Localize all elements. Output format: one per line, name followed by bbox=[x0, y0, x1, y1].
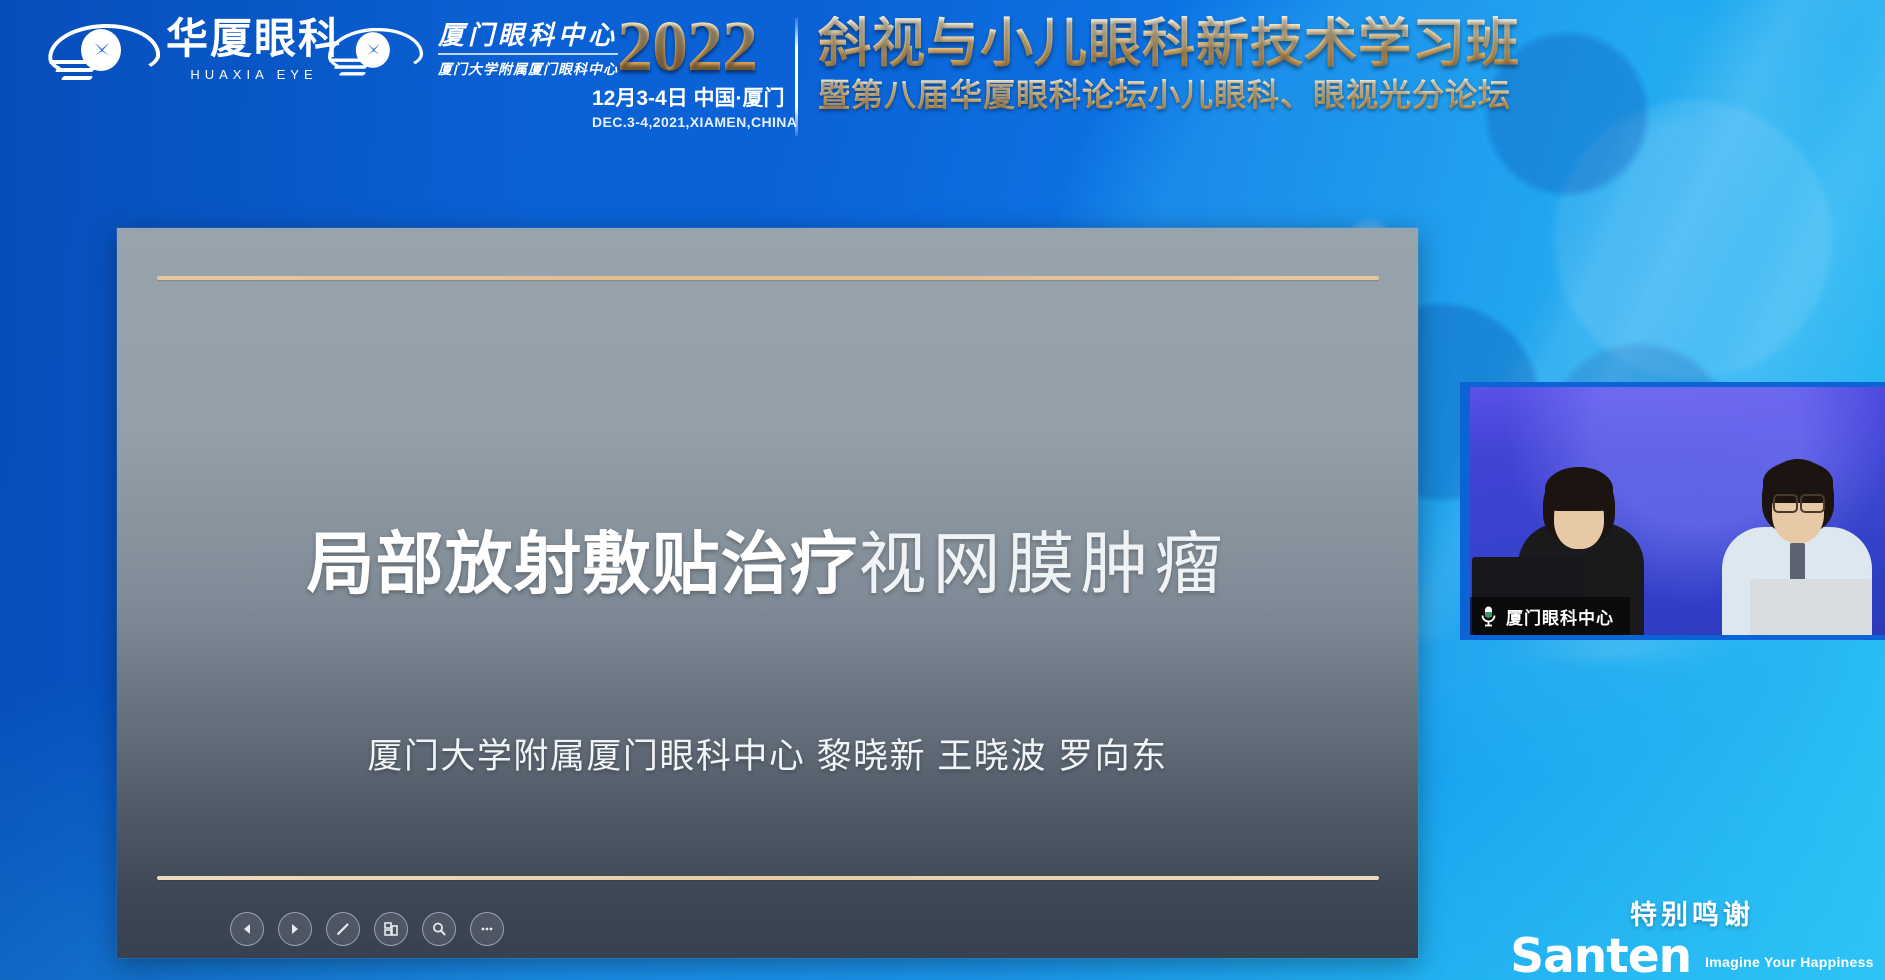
slide-top-rule bbox=[157, 276, 1379, 280]
slide-title-light: 视网膜肿瘤 bbox=[859, 527, 1229, 603]
event-title-main: 斜视与小儿眼科新技术学习班 bbox=[818, 16, 1520, 72]
broadcast-screen: 华厦眼科 HUAXIA EYE 厦门眼科中心 厦门大学附属厦门眼科中心 2022… bbox=[0, 0, 1885, 980]
xiamen-logo-sub: 厦门大学附属厦门眼科中心 bbox=[438, 59, 618, 79]
huaxia-logo-en: HUAXIA EYE bbox=[166, 67, 342, 82]
logo-divider bbox=[438, 53, 618, 55]
xiamen-eye-center-logo: 厦门眼科中心 厦门大学附属厦门眼科中心 bbox=[320, 20, 618, 80]
participant-name: 厦门眼科中心 bbox=[1506, 604, 1614, 629]
triangle-left-icon bbox=[240, 922, 254, 936]
eye-logo-icon bbox=[328, 25, 416, 76]
event-title-block: 斜视与小儿眼科新技术学习班 暨第八届华厦眼科论坛小儿眼科、眼视光分论坛 bbox=[818, 16, 1520, 113]
huaxia-logo-cn: 华厦眼科 bbox=[166, 18, 342, 60]
participant-right bbox=[1722, 445, 1872, 635]
eye-logo-icon bbox=[48, 20, 152, 80]
huaxia-eye-logo: 华厦眼科 HUAXIA EYE bbox=[48, 18, 342, 82]
slide-layout-button[interactable] bbox=[374, 912, 408, 946]
event-date-en: DEC.3-4,2021,XIAMEN,CHINA bbox=[592, 114, 782, 130]
video-pip-panel[interactable]: 厦门眼科中心 bbox=[1460, 382, 1885, 640]
next-slide-button[interactable] bbox=[278, 912, 312, 946]
video-feed: 厦门眼科中心 bbox=[1470, 387, 1885, 635]
bird-glyph-icon bbox=[366, 42, 381, 57]
annotate-pen-button[interactable] bbox=[326, 912, 360, 946]
laptop bbox=[1750, 579, 1872, 635]
pen-icon bbox=[335, 921, 351, 937]
microphone-icon bbox=[1480, 605, 1497, 627]
banner-divider bbox=[795, 18, 798, 136]
sponsor-brand-name: Santen bbox=[1510, 936, 1691, 978]
sponsor-block: 特别鸣谢 Santen Imagine Your Happiness bbox=[1527, 893, 1857, 978]
slide-title-strong: 局部放射敷贴治疗 bbox=[306, 527, 858, 603]
xiamen-logo-cn: 厦门眼科中心 bbox=[438, 22, 618, 48]
event-date-block: 2022 12月3-4日 中国·厦门 DEC.3-4,2021,XIAMEN,C… bbox=[592, 12, 782, 130]
layers-icon bbox=[383, 921, 399, 937]
ellipsis-icon bbox=[479, 921, 495, 937]
event-date-cn: 12月3-4日 中国·厦门 bbox=[592, 82, 782, 112]
zoom-button[interactable] bbox=[422, 912, 456, 946]
participant-name-badge: 厦门眼科中心 bbox=[1470, 597, 1630, 635]
event-year: 2022 bbox=[592, 12, 782, 80]
slide-title: 局部放射敷贴治疗视网膜肿瘤 bbox=[117, 509, 1418, 608]
hair-front bbox=[1545, 467, 1613, 511]
magnifier-icon bbox=[431, 921, 447, 937]
slide-toolbar[interactable] bbox=[230, 912, 504, 946]
bird-glyph-icon bbox=[93, 40, 111, 58]
sponsor-tagline: Imagine Your Happiness bbox=[1705, 954, 1874, 978]
event-title-sub: 暨第八届华厦眼科论坛小儿眼科、眼视光分论坛 bbox=[818, 78, 1520, 113]
special-thanks-label: 特别鸣谢 bbox=[1527, 893, 1857, 932]
sponsor-logo: Santen Imagine Your Happiness bbox=[1527, 936, 1857, 978]
event-banner: 华厦眼科 HUAXIA EYE 厦门眼科中心 厦门大学附属厦门眼科中心 2022… bbox=[0, 0, 1885, 160]
slide-bottom-rule bbox=[157, 876, 1379, 880]
glasses-left-lens bbox=[1773, 494, 1798, 513]
glasses-right-lens bbox=[1800, 494, 1825, 513]
slide-subtitle: 厦门大学附属厦门眼科中心 黎晓新 王晓波 罗向东 bbox=[117, 728, 1418, 779]
presentation-slide[interactable]: 局部放射敷贴治疗视网膜肿瘤 厦门大学附属厦门眼科中心 黎晓新 王晓波 罗向东 bbox=[117, 228, 1418, 958]
triangle-right-icon bbox=[288, 922, 302, 936]
more-options-button[interactable] bbox=[470, 912, 504, 946]
previous-slide-button[interactable] bbox=[230, 912, 264, 946]
